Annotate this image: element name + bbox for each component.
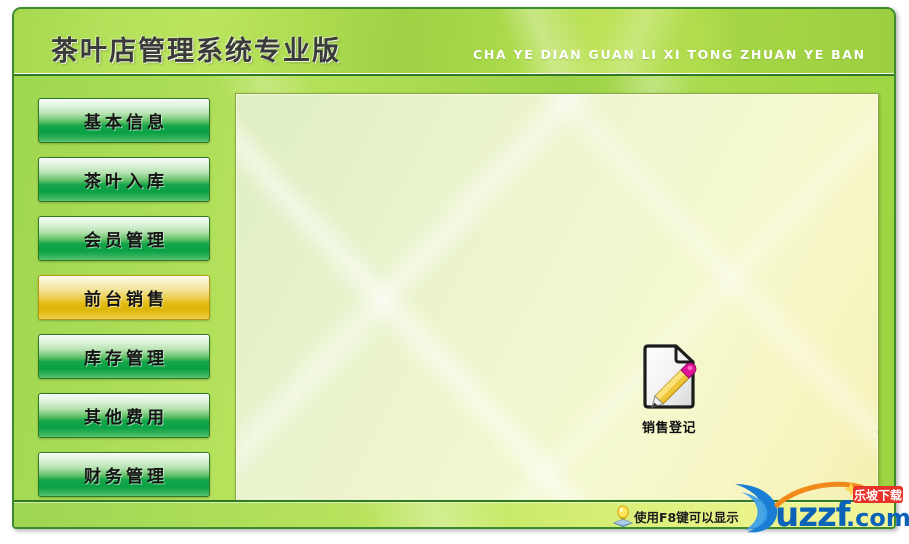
desktop-icon-label: 销售登记 <box>613 417 725 436</box>
header-separator <box>14 73 894 76</box>
page-subtitle-pinyin: CHA YE DIAN GUAN LI XI TONG ZHUAN YE BAN <box>473 47 866 62</box>
sidebar-item-label: 基本信息 <box>80 108 168 133</box>
sidebar-item-label: 会员管理 <box>80 226 168 251</box>
document-pencil-icon <box>613 341 725 413</box>
sidebar-item-label: 财务管理 <box>80 462 168 487</box>
sidebar-navigation: 基本信息茶叶入库会员管理前台销售库存管理其他费用财务管理 <box>14 76 229 529</box>
window-frame: 茶叶店管理系统专业版 CHA YE DIAN GUAN LI XI TONG Z… <box>12 7 896 529</box>
desktop-icon-daily-sales-detail[interactable]: 当天销售明细 <box>861 341 879 436</box>
sidebar-item-member-management[interactable]: 会员管理 <box>38 216 210 261</box>
status-hint-text: 使用F8键可以显示 <box>634 507 739 526</box>
sidebar-item-label: 库存管理 <box>80 344 168 369</box>
status-bar: 使用F8键可以显示 <box>14 502 894 527</box>
desktop-icon-label: 当天销售明细 <box>861 417 879 436</box>
sidebar-item-inventory-management[interactable]: 库存管理 <box>38 334 210 379</box>
sidebar-item-tea-inbound[interactable]: 茶叶入库 <box>38 157 210 202</box>
sidebar-item-finance-management[interactable]: 财务管理 <box>38 452 210 497</box>
application-window: 茶叶店管理系统专业版 CHA YE DIAN GUAN LI XI TONG Z… <box>0 0 909 544</box>
header-banner: 茶叶店管理系统专业版 CHA YE DIAN GUAN LI XI TONG Z… <box>14 9 894 73</box>
scroll-pen-icon <box>861 341 879 413</box>
sidebar-item-front-desk-sales[interactable]: 前台销售 <box>38 275 210 320</box>
lightbulb-icon <box>612 504 634 527</box>
content-panel: 销售登记 <box>235 93 879 506</box>
sidebar-item-label: 前台销售 <box>80 285 168 310</box>
sidebar-item-label: 茶叶入库 <box>80 167 168 192</box>
desktop-icon-sales-registration[interactable]: 销售登记 <box>613 341 725 436</box>
page-title: 茶叶店管理系统专业版 <box>51 29 341 68</box>
sidebar-item-other-expenses[interactable]: 其他费用 <box>38 393 210 438</box>
sidebar-item-basic-info[interactable]: 基本信息 <box>38 98 210 143</box>
sidebar-item-label: 其他费用 <box>80 403 168 428</box>
frame-bottom-edge <box>14 500 894 502</box>
